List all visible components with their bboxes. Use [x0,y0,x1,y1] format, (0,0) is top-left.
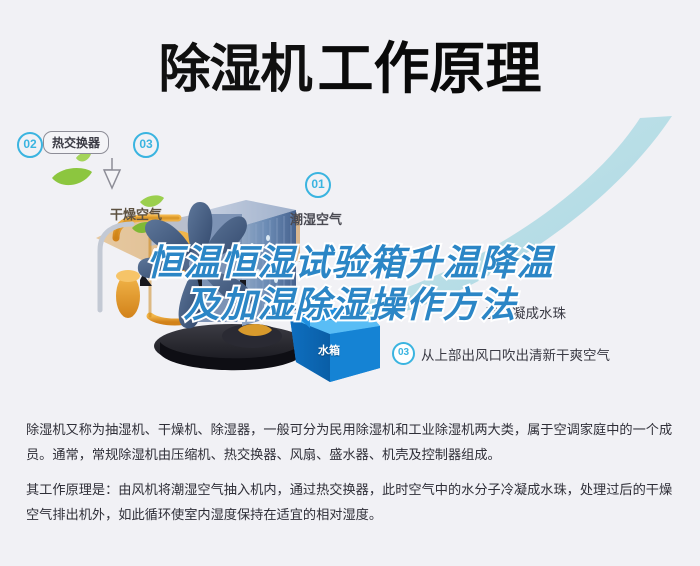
badge-01: 01 [305,172,331,198]
humid-air-label: 潮湿空气 [290,209,342,228]
note-condensation: 器冷凝成水珠 [485,302,566,322]
heat-exchanger-callout: 热交换器 [43,131,109,154]
note-outlet: 03 从上部出风口吹出清新干爽空气 [392,342,610,365]
page-title: 除湿机 工作原理 [0,28,700,100]
note-condensation-text: 器冷凝成水珠 [485,306,566,322]
water-tank-label: 水箱 [318,342,340,358]
page-root: 除湿机 工作原理 [0,0,700,566]
body-paragraph-2: 其工作原理是：由风机将潮湿空气抽入机内，通过热交换器，此时空气中的水分子冷凝成水… [26,478,674,528]
page-title-part2: 工作原理 [318,24,542,105]
page-title-part1: 除湿机 [158,27,311,102]
body-paragraph-1: 除湿机又称为抽湿机、干燥机、除湿器，一般可分为民用除湿机和工业除湿机两大类，属于… [26,418,674,468]
dry-air-label: 干燥空气 [110,204,162,223]
note-outlet-badge: 03 [392,342,415,365]
badge-02: 02 [17,132,43,158]
badge-03: 03 [133,132,159,158]
note-outlet-text: 从上部出风口吹出清新干爽空气 [421,344,610,364]
body-copy: 除湿机又称为抽湿机、干燥机、除湿器，一般可分为民用除湿机和工业除湿机两大类，属于… [26,418,674,538]
